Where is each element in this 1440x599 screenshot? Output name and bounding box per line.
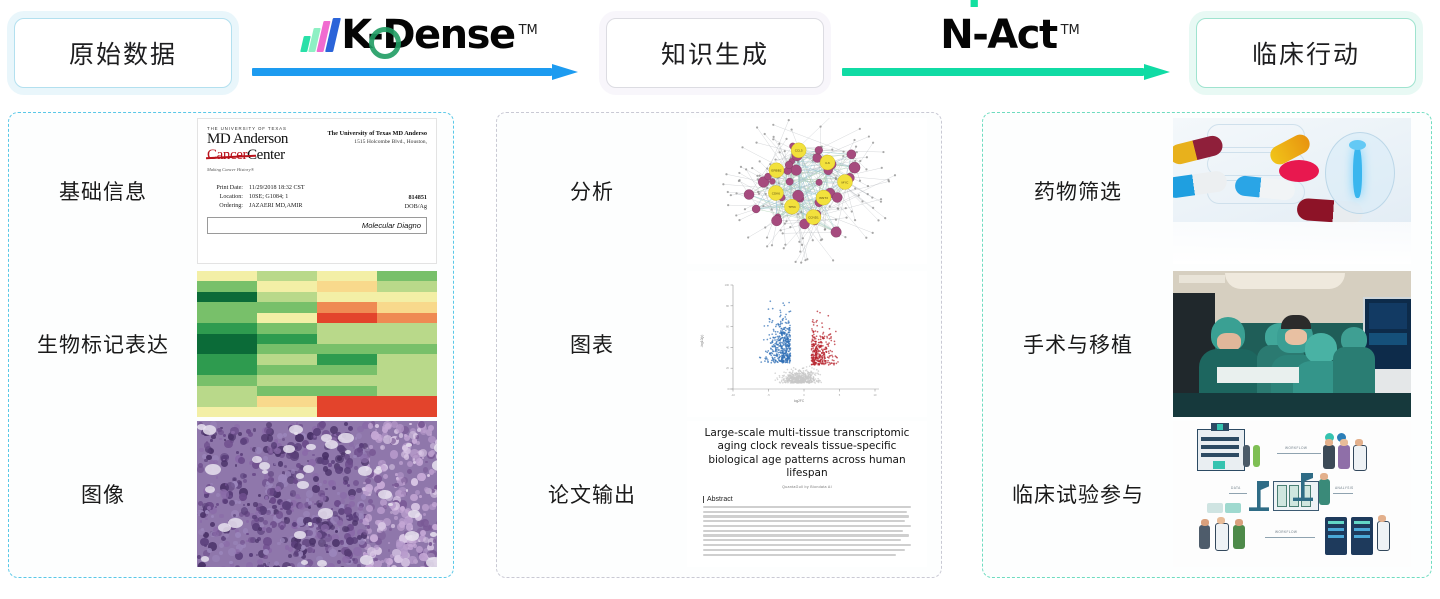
- expression-heatmap[interactable]: [197, 271, 437, 417]
- gene-network-graph[interactable]: WNT3CCND1TP53CDK6ERBB2CCL5IL6MYC: [687, 118, 927, 264]
- data-point: [812, 347, 814, 349]
- data-point: [793, 375, 795, 377]
- network-leaf-node: [766, 167, 768, 169]
- panel-row[interactable]: 药物筛选: [983, 116, 1431, 266]
- data-point: [817, 311, 819, 313]
- data-point: [831, 351, 833, 353]
- network-leaf-node: [727, 204, 729, 206]
- heatmap-cell: [317, 354, 377, 364]
- network-node: [752, 205, 760, 213]
- heatmap-cell: [257, 354, 317, 364]
- data-point: [785, 314, 787, 316]
- data-point: [821, 356, 823, 358]
- heatmap-cell: [197, 292, 257, 302]
- data-point: [780, 312, 782, 314]
- data-point: [785, 330, 787, 332]
- paper-text-line: [703, 525, 911, 527]
- network-leaf-node: [759, 174, 761, 176]
- data-point: [822, 345, 824, 347]
- nact-name-text: N-Act: [940, 12, 1056, 58]
- panel-row[interactable]: 图像: [9, 419, 453, 569]
- heatmap-cell: [317, 271, 377, 281]
- data-point: [784, 345, 786, 347]
- network-leaf-node: [785, 138, 787, 140]
- data-point: [819, 380, 821, 382]
- network-leaf-node: [866, 156, 868, 158]
- y-tick-label: 20: [726, 366, 729, 370]
- heatmap-cell: [257, 271, 317, 281]
- network-leaf-node: [740, 166, 742, 168]
- panel-row[interactable]: 图表 -log10(p)log2FC-10-50510020406080100: [497, 269, 941, 419]
- data-point: [825, 347, 827, 349]
- heatmap-cell: [377, 334, 437, 344]
- network-leaf-node: [781, 203, 783, 205]
- data-point: [827, 360, 829, 362]
- data-point: [818, 342, 820, 344]
- row-label-image: 图像: [9, 479, 197, 509]
- data-point: [815, 372, 817, 374]
- heatmap-cell: [197, 396, 257, 406]
- y-tick-label: 60: [726, 325, 729, 329]
- data-point: [779, 332, 781, 334]
- doc-field-row: Ordering: JAZAERI MD,AMIR DOB/Ag: [207, 203, 427, 210]
- paper-preview[interactable]: Large-scale multi-tissue transcriptomic …: [687, 421, 927, 567]
- data-point: [782, 329, 784, 331]
- data-point: [818, 380, 820, 382]
- data-point: [806, 378, 808, 380]
- data-point: [785, 343, 787, 345]
- network-node: [815, 146, 823, 154]
- data-point: [830, 350, 832, 352]
- data-point: [811, 364, 813, 366]
- data-point: [767, 359, 769, 361]
- paper-text-line: [703, 530, 903, 532]
- kdense-logo: K-DenseTM: [248, 10, 590, 60]
- data-point: [780, 352, 782, 354]
- network-leaf-node: [856, 151, 858, 153]
- data-point: [772, 351, 774, 353]
- paper-text-line: [703, 534, 909, 536]
- data-point: [783, 304, 785, 306]
- data-point: [819, 374, 821, 376]
- data-point: [819, 335, 821, 337]
- network-node: [771, 215, 781, 225]
- data-point: [778, 349, 780, 351]
- data-point: [805, 374, 807, 376]
- network-leaf-node: [859, 180, 861, 182]
- data-point: [801, 374, 803, 376]
- doc-field-right: 814851: [408, 194, 427, 201]
- data-point: [814, 351, 816, 353]
- network-leaf-node: [842, 155, 844, 157]
- histology-image: [197, 421, 437, 567]
- data-point: [782, 356, 784, 358]
- data-point: [776, 355, 778, 357]
- data-point: [776, 339, 778, 341]
- data-point: [785, 322, 787, 324]
- heatmap-cell: [197, 375, 257, 385]
- doc-tagline: Making Cancer History®: [207, 168, 288, 173]
- data-point: [821, 352, 823, 354]
- heatmap-cell: [377, 365, 437, 375]
- data-point: [814, 382, 816, 384]
- heatmap-cell: [197, 323, 257, 333]
- heatmap-cell: [317, 313, 377, 323]
- heatmap-cell: [257, 386, 317, 396]
- data-point: [816, 345, 818, 347]
- heatmap-cell: [317, 323, 377, 333]
- data-point: [795, 374, 797, 376]
- network-leaf-node: [845, 207, 847, 209]
- network-node-label: TP53: [788, 205, 796, 209]
- stage-label: 知识生成: [661, 35, 769, 71]
- data-point: [772, 308, 774, 310]
- data-point: [788, 311, 790, 313]
- histopathology-slide[interactable]: [197, 421, 437, 567]
- data-point: [775, 361, 777, 363]
- heatmap-cell: [197, 386, 257, 396]
- data-point: [815, 343, 817, 345]
- data-point: [824, 353, 826, 355]
- data-point: [813, 336, 815, 338]
- clinical-trial-infographic[interactable]: WORKFLOW DATA ANALYSIS: [1173, 421, 1411, 567]
- data-point: [791, 378, 793, 380]
- row-label-biomarker: 生物标记表达: [9, 329, 197, 359]
- network-leaf-node: [725, 173, 727, 175]
- data-point: [770, 347, 772, 349]
- network-leaf-node: [755, 142, 757, 144]
- data-point: [787, 336, 789, 338]
- network-leaf-node: [764, 226, 766, 228]
- data-point: [816, 320, 818, 322]
- network-leaf-node: [747, 236, 749, 238]
- network-leaf-node: [782, 232, 784, 234]
- network-svg: WNT3CCND1TP53CDK6ERBB2CCL5IL6MYC: [687, 118, 927, 264]
- medical-report-document[interactable]: THE UNIVERSITY OF TEXAS MD Anderson Canc…: [197, 118, 437, 264]
- data-point: [816, 380, 818, 382]
- data-point: [821, 362, 823, 364]
- network-leaf-node: [881, 167, 883, 169]
- data-point: [789, 348, 791, 350]
- data-point: [821, 322, 823, 324]
- volcano-plot[interactable]: -log10(p)log2FC-10-50510020406080100: [687, 271, 927, 417]
- network-leaf-node: [751, 167, 753, 169]
- network-leaf-node: [804, 259, 806, 261]
- stage-raw-data[interactable]: 原始数据: [14, 18, 232, 88]
- data-point: [777, 331, 779, 333]
- data-point: [813, 322, 815, 324]
- data-point: [781, 334, 783, 336]
- data-point: [772, 320, 774, 322]
- network-leaf-node: [738, 172, 740, 174]
- data-point: [781, 379, 783, 381]
- data-point: [812, 355, 814, 357]
- doc-brand-cancer: Cancer: [207, 148, 247, 163]
- network-leaf-node: [794, 261, 796, 263]
- x-tick-label: -5: [767, 393, 770, 397]
- data-point: [813, 377, 815, 379]
- data-point: [774, 379, 776, 381]
- panel-row[interactable]: 临床试验参与: [983, 419, 1431, 569]
- data-point: [789, 362, 791, 364]
- data-point: [815, 354, 817, 356]
- doc-address-line2: 1515 Holcombe Blvd., Houston,: [327, 139, 427, 145]
- data-point: [810, 371, 812, 373]
- data-point: [781, 352, 783, 354]
- network-leaf-node: [880, 198, 882, 200]
- data-point: [818, 351, 820, 353]
- network-node-label: CCL5: [795, 149, 803, 153]
- data-point: [789, 334, 791, 336]
- data-point: [818, 339, 820, 341]
- data-point: [816, 325, 818, 327]
- data-point: [769, 300, 771, 302]
- heatmap-cell: [257, 313, 317, 323]
- network-leaf-node: [820, 239, 822, 241]
- data-point: [784, 350, 786, 352]
- network-leaf-node: [872, 142, 874, 144]
- data-point: [781, 332, 783, 334]
- panel-row[interactable]: 分析 WNT3CCND1TP53CDK6ERBB2CCL5IL6MYC: [497, 116, 941, 266]
- network-leaf-node: [844, 236, 846, 238]
- network-leaf-node: [880, 201, 882, 203]
- data-point: [805, 370, 807, 372]
- data-point: [763, 325, 765, 327]
- data-point: [770, 353, 772, 355]
- data-point: [819, 312, 821, 314]
- network-leaf-node: [854, 219, 856, 221]
- data-point: [766, 351, 768, 353]
- network-leaf-node: [888, 180, 890, 182]
- data-point: [785, 327, 787, 329]
- heatmap-cell: [377, 344, 437, 354]
- data-point: [779, 326, 781, 328]
- data-point: [767, 350, 769, 352]
- data-point: [771, 360, 773, 362]
- data-point: [825, 341, 827, 343]
- data-point: [773, 344, 775, 346]
- network-leaf-node: [835, 219, 837, 221]
- network-leaf-node: [831, 148, 833, 150]
- data-point: [823, 359, 825, 361]
- network-leaf-node: [758, 193, 760, 195]
- data-point: [790, 379, 792, 381]
- network-leaf-node: [785, 220, 787, 222]
- data-point: [828, 351, 830, 353]
- data-point: [760, 361, 762, 363]
- network-leaf-node: [738, 219, 740, 221]
- network-edge: [783, 232, 836, 233]
- data-point: [818, 370, 820, 372]
- data-point: [777, 361, 779, 363]
- data-point: [812, 319, 814, 321]
- drug-screening-photo[interactable]: [1173, 118, 1411, 264]
- data-point: [771, 345, 773, 347]
- panel-row[interactable]: 基础信息 THE UNIVERSITY OF TEXAS MD Anderson…: [9, 116, 453, 266]
- network-leaf-node: [884, 217, 886, 219]
- data-point: [797, 373, 799, 375]
- data-point: [786, 338, 788, 340]
- data-point: [795, 382, 797, 384]
- data-point: [797, 382, 799, 384]
- data-point: [802, 368, 804, 370]
- data-point: [818, 355, 820, 357]
- data-point: [775, 333, 777, 335]
- network-leaf-node: [845, 217, 847, 219]
- data-point: [833, 362, 835, 364]
- heatmap-cell: [197, 271, 257, 281]
- data-point: [833, 360, 835, 362]
- data-point: [820, 339, 822, 341]
- surgery-photo[interactable]: [1173, 271, 1411, 417]
- heatmap-cell: [257, 281, 317, 291]
- network-node-label: IL6: [825, 161, 830, 165]
- data-point: [809, 382, 811, 384]
- data-point: [814, 363, 816, 365]
- data-point: [832, 356, 834, 358]
- doc-brand-md: MD Anderson: [207, 132, 288, 147]
- pipeline-header: 原始数据 K-DenseTM 知识生成 N-Act: [0, 0, 1440, 108]
- data-point: [779, 375, 781, 377]
- row-label-clinical-trial: 临床试验参与: [983, 479, 1173, 509]
- data-point: [805, 380, 807, 382]
- network-leaf-node: [784, 223, 786, 225]
- kdense-bars-icon: [300, 18, 340, 52]
- network-leaf-node: [894, 174, 896, 176]
- data-point: [830, 340, 832, 342]
- network-leaf-node: [801, 244, 803, 246]
- network-leaf-node: [872, 232, 874, 234]
- data-point: [787, 360, 789, 362]
- heatmap-cell: [377, 313, 437, 323]
- network-leaf-node: [882, 151, 884, 153]
- data-point: [809, 372, 811, 374]
- network-leaf-node: [774, 158, 776, 160]
- data-point: [825, 351, 827, 353]
- panel-row[interactable]: 手术与移植: [983, 269, 1431, 419]
- data-point: [791, 369, 793, 371]
- data-point: [784, 357, 786, 359]
- panel-row[interactable]: 生物标记表达: [9, 269, 453, 419]
- network-leaf-node: [730, 194, 732, 196]
- data-point: [788, 302, 790, 304]
- data-point: [823, 363, 825, 365]
- data-point: [782, 344, 784, 346]
- nact-trademark: TM: [1061, 23, 1080, 38]
- data-point: [782, 359, 784, 361]
- volcano-svg: -log10(p)log2FC-10-50510020406080100: [687, 271, 927, 417]
- heatmap-cell: [257, 344, 317, 354]
- network-leaf-node: [735, 214, 737, 216]
- stage-clinical-action[interactable]: 临床行动: [1196, 18, 1416, 88]
- data-point: [798, 376, 800, 378]
- heatmap-cell: [257, 302, 317, 312]
- heatmap-cell: [197, 302, 257, 312]
- diagram-canvas: 原始数据 K-DenseTM 知识生成 N-Act: [0, 0, 1440, 599]
- data-point: [771, 322, 773, 324]
- data-point: [816, 335, 818, 337]
- nact-transition: N-Act TM: [838, 0, 1182, 108]
- data-point: [818, 382, 820, 384]
- data-point: [783, 327, 785, 329]
- heatmap-cell: [377, 386, 437, 396]
- stage-knowledge[interactable]: 知识生成: [606, 18, 824, 88]
- y-tick-label: 40: [726, 345, 729, 349]
- data-point: [822, 350, 824, 352]
- paper-text-line: [703, 520, 905, 522]
- heatmap-cell: [377, 302, 437, 312]
- data-label: DATA: [1231, 486, 1241, 490]
- data-point: [780, 314, 782, 316]
- data-point: [788, 379, 790, 381]
- heatmap-grid: [197, 271, 437, 417]
- data-point: [780, 360, 782, 362]
- data-point: [773, 329, 775, 331]
- heatmap-cell: [257, 323, 317, 333]
- data-point: [816, 350, 818, 352]
- data-point: [770, 362, 772, 364]
- network-leaf-node: [791, 128, 793, 130]
- heatmap-cell: [377, 396, 437, 406]
- data-point: [821, 348, 823, 350]
- data-point: [774, 346, 776, 348]
- network-leaf-node: [871, 196, 873, 198]
- data-point: [789, 356, 791, 358]
- doc-field-label: Print Date:: [207, 185, 243, 191]
- heatmap-cell: [377, 271, 437, 281]
- data-point: [769, 337, 771, 339]
- data-point: [815, 378, 817, 380]
- paper-text-line: [703, 554, 896, 556]
- data-point: [772, 358, 774, 360]
- heatmap-cell: [317, 365, 377, 375]
- data-point: [827, 315, 829, 317]
- data-point: [811, 341, 813, 343]
- data-point: [817, 360, 819, 362]
- data-point: [789, 331, 791, 333]
- data-point: [813, 333, 815, 335]
- heatmap-cell: [197, 407, 257, 417]
- data-point: [778, 356, 780, 358]
- network-leaf-node: [778, 151, 780, 153]
- data-point: [787, 374, 789, 376]
- data-point: [776, 353, 778, 355]
- data-point: [785, 372, 787, 374]
- data-point: [789, 353, 791, 355]
- data-point: [813, 361, 815, 363]
- network-leaf-node: [854, 187, 856, 189]
- data-point: [812, 358, 814, 360]
- kdense-wordmark: K-DenseTM: [300, 15, 538, 55]
- data-point: [775, 348, 777, 350]
- network-node-label: CCND1: [808, 216, 819, 220]
- data-point: [818, 353, 820, 355]
- data-point: [789, 340, 791, 342]
- data-point: [779, 309, 781, 311]
- network-leaf-node: [766, 187, 768, 189]
- heatmap-cell: [257, 407, 317, 417]
- panel-row[interactable]: 论文输出 Large-scale multi-tissue transcript…: [497, 419, 941, 569]
- network-node: [786, 178, 793, 185]
- network-leaf-node: [859, 160, 861, 162]
- data-point: [780, 324, 782, 326]
- paper-page: Large-scale multi-tissue transcriptomic …: [687, 421, 927, 567]
- data-point: [770, 355, 772, 357]
- data-point: [775, 326, 777, 328]
- heatmap-cell: [257, 365, 317, 375]
- paper-text-line: [703, 544, 911, 546]
- x-tick-label: 0: [803, 393, 805, 397]
